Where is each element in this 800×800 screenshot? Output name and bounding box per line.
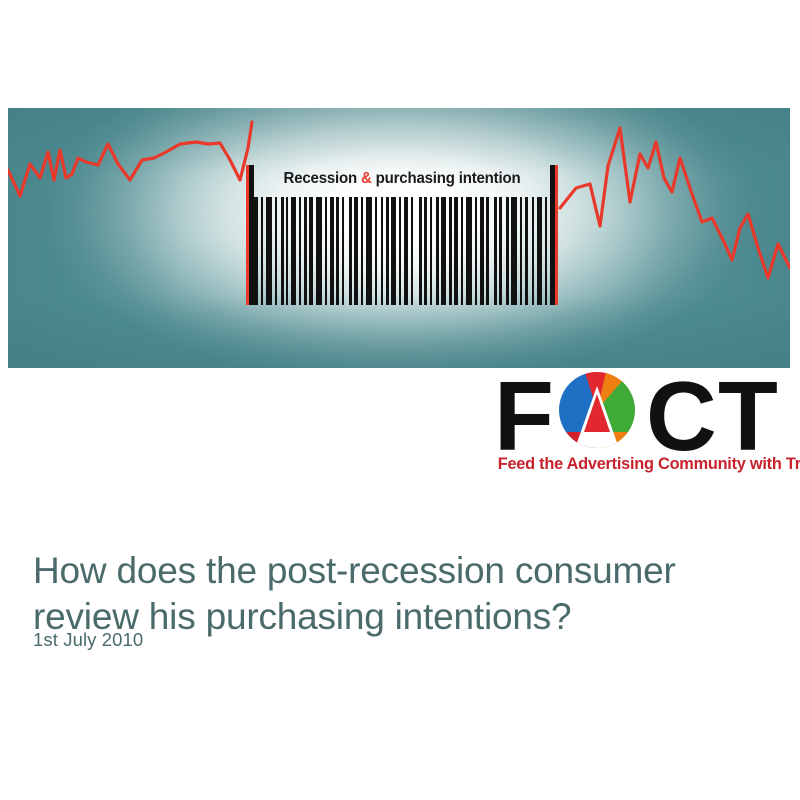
barcode-space: [547, 197, 550, 305]
fact-a-circle-icon: [551, 372, 643, 448]
barcode-title-ampersand: &: [361, 170, 372, 187]
barcode-title-prefix: Recession: [284, 170, 361, 187]
barcode-bars: [254, 197, 550, 305]
fact-logo: F: [494, 371, 790, 475]
barcode-title-suffix: purchasing intention: [372, 170, 521, 187]
line-series-right: [560, 128, 790, 278]
page-title: How does the post-recession consumer rev…: [33, 548, 763, 641]
fact-wordmark: F: [494, 371, 790, 451]
fact-letter-c: C: [646, 367, 717, 465]
fact-letter-t: T: [718, 367, 778, 465]
fact-tagline: Feed the Advertising Community with Tren…: [498, 455, 800, 474]
line-series-left: [8, 122, 252, 196]
barcode-title-row: Recession & purchasing intention: [246, 165, 558, 193]
barcode-graphic: Recession & purchasing intention: [246, 165, 558, 305]
fact-letter-f: F: [494, 367, 550, 465]
hero-banner: Recession & purchasing intention: [8, 108, 790, 368]
barcode-title-text: Recession & purchasing intention: [264, 171, 539, 187]
slide-date: 1st July 2010: [33, 629, 143, 651]
